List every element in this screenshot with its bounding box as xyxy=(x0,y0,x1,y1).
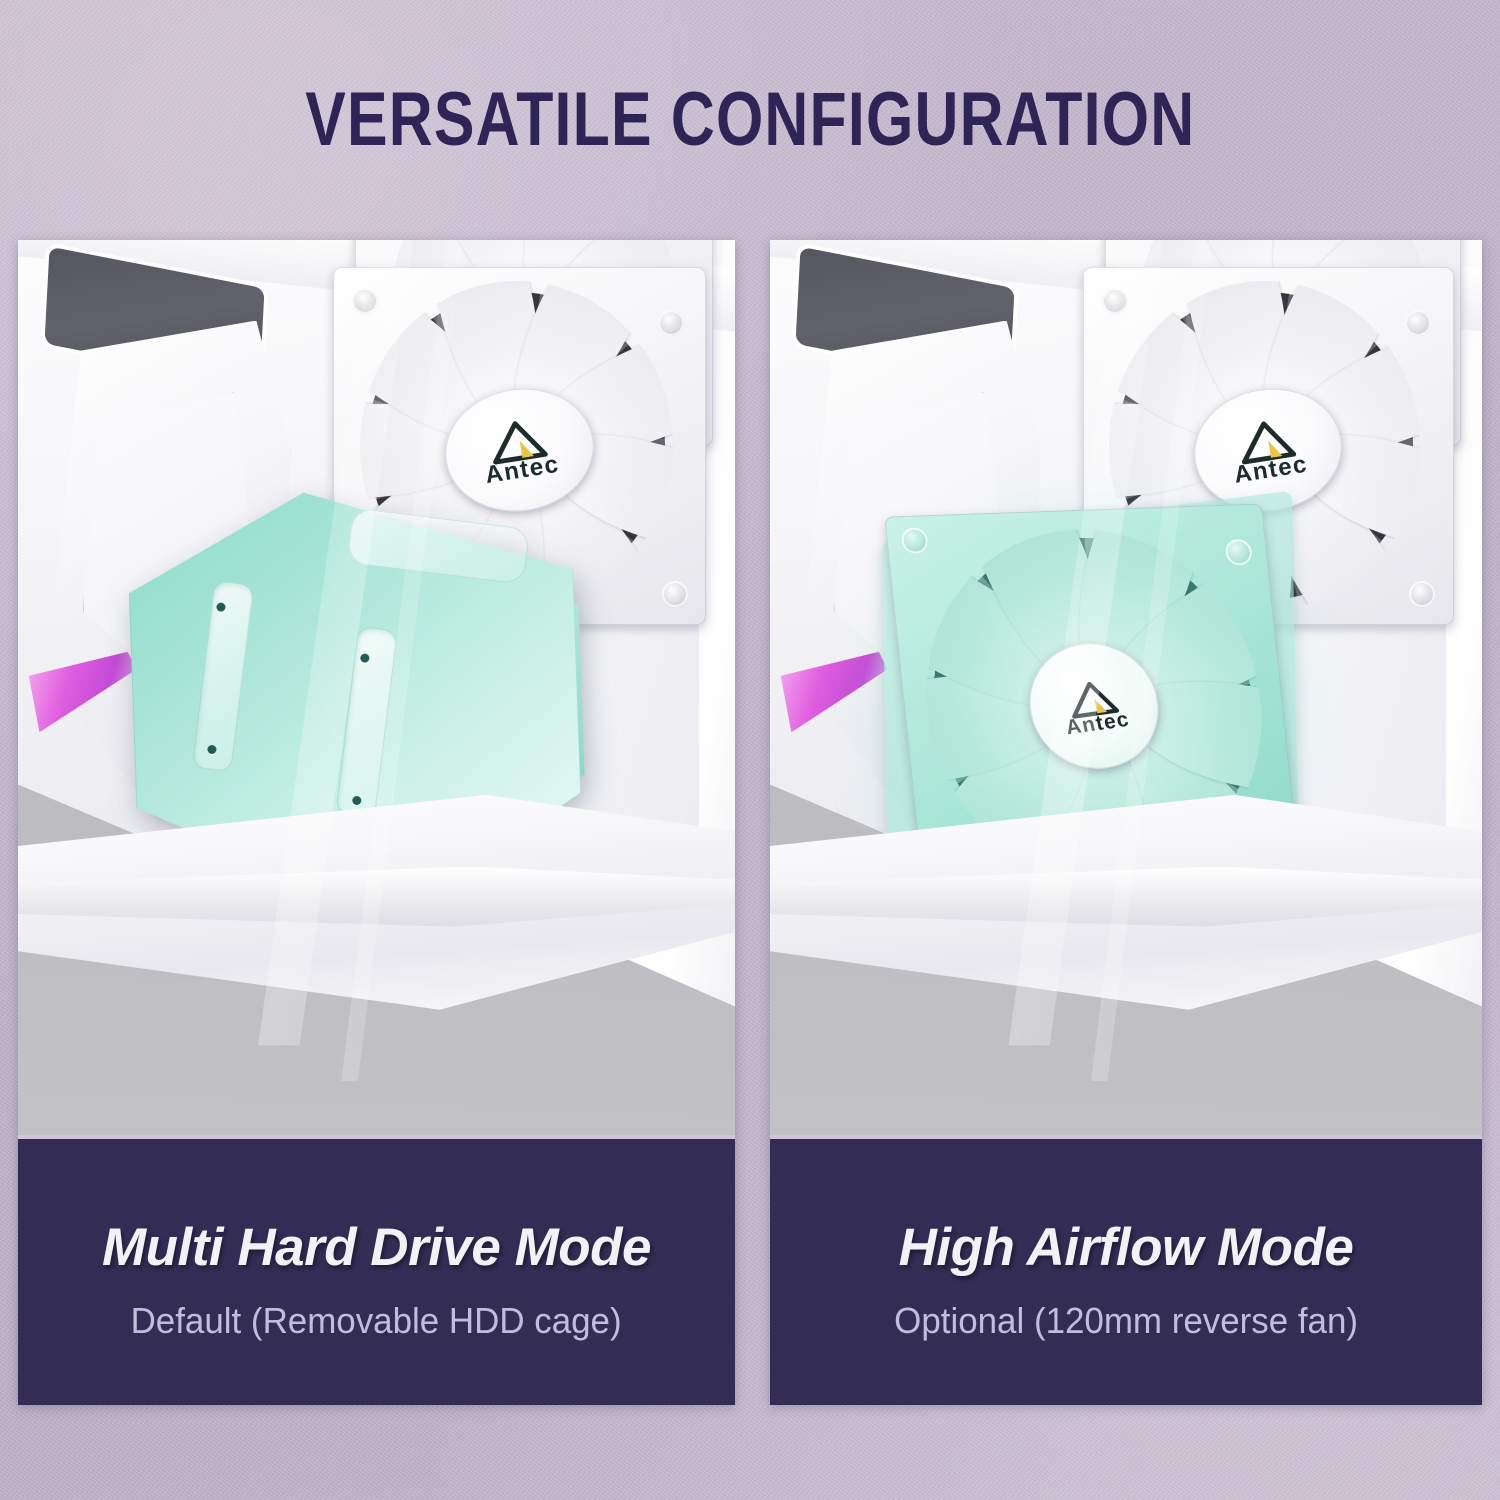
product-photo-left: Antec xyxy=(18,240,735,1135)
caption-title: Multi Hard Drive Mode xyxy=(102,1217,651,1278)
caption-high-airflow-mode: High Airflow Mode Optional (120mm revers… xyxy=(770,1135,1482,1405)
caption-subtitle: Default (Removable HDD cage) xyxy=(131,1300,622,1342)
cage-screw-hole xyxy=(207,745,216,754)
product-photo-right: Antec xyxy=(770,240,1482,1135)
cage-screw-hole xyxy=(360,653,369,662)
pc-case-left: Antec xyxy=(18,240,735,1135)
panel-multi-hard-drive-mode: Antec Multi Hard xyxy=(18,240,735,1405)
svg-text:Antec: Antec xyxy=(1233,450,1310,488)
page-title: VERSATILE CONFIGURATION xyxy=(0,74,1500,164)
cage-screw-hole xyxy=(351,795,360,804)
pc-case-right: Antec xyxy=(770,240,1482,1135)
panel-high-airflow-mode: Antec xyxy=(770,240,1482,1405)
caption-subtitle: Optional (120mm reverse fan) xyxy=(894,1300,1358,1342)
cage-screw-hole xyxy=(216,602,225,611)
page-title-text: VERSATILE CONFIGURATION xyxy=(305,76,1195,163)
antec-logo-icon: Antec xyxy=(1204,394,1333,506)
caption-multi-hard-drive-mode: Multi Hard Drive Mode Default (Removable… xyxy=(18,1135,735,1405)
caption-title: High Airflow Mode xyxy=(899,1217,1354,1278)
